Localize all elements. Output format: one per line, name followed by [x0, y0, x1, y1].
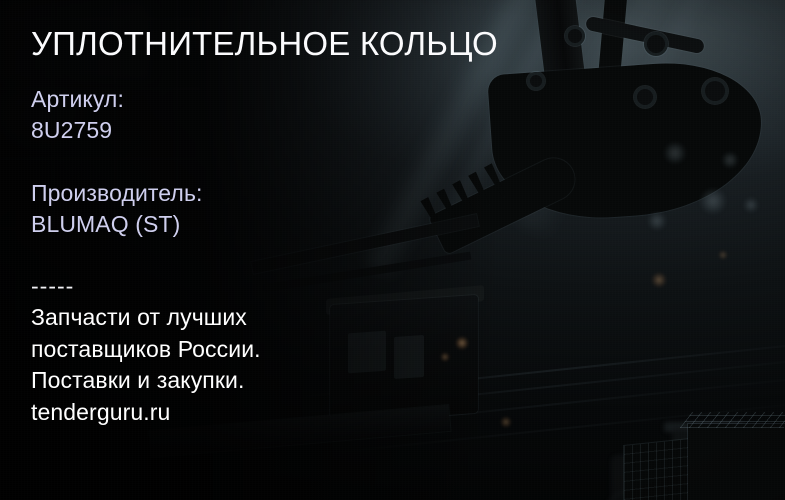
product-banner-card: УПЛОТНИТЕЛЬНОЕ КОЛЬЦО Артикул: 8U2759 Пр… [0, 0, 785, 500]
card-text-content: УПЛОТНИТЕЛЬНОЕ КОЛЬЦО Артикул: 8U2759 Пр… [31, 0, 591, 500]
field-article: Артикул: 8U2759 [31, 84, 124, 146]
site-url: tenderguru.ru [31, 397, 261, 429]
bokeh-light [664, 142, 686, 164]
field-manufacturer-label: Производитель: [31, 178, 203, 209]
excavator-pivot [634, 86, 656, 108]
bokeh-light [744, 198, 758, 212]
lamp-glow [651, 272, 667, 288]
description-line-3: Поставки и закупки. [31, 365, 261, 397]
description-line-2: поставщиков России. [31, 334, 261, 366]
description-block: Запчасти от лучших поставщиков России. П… [31, 302, 261, 428]
field-manufacturer-value: BLUMAQ (ST) [31, 209, 203, 240]
lamp-glow [718, 250, 728, 260]
bokeh-light [648, 212, 666, 230]
excavator-pivot [644, 32, 668, 56]
field-article-value: 8U2759 [31, 115, 124, 146]
excavator-pivot [702, 78, 728, 104]
page-title: УПЛОТНИТЕЛЬНОЕ КОЛЬЦО [31, 24, 498, 64]
mesh-crate [688, 424, 785, 500]
description-line-1: Запчасти от лучших [31, 302, 261, 334]
field-manufacturer: Производитель: BLUMAQ (ST) [31, 178, 203, 240]
divider-dashes: ----- [31, 272, 74, 300]
bokeh-light [700, 188, 726, 214]
field-article-label: Артикул: [31, 84, 124, 115]
bokeh-light [722, 152, 738, 168]
